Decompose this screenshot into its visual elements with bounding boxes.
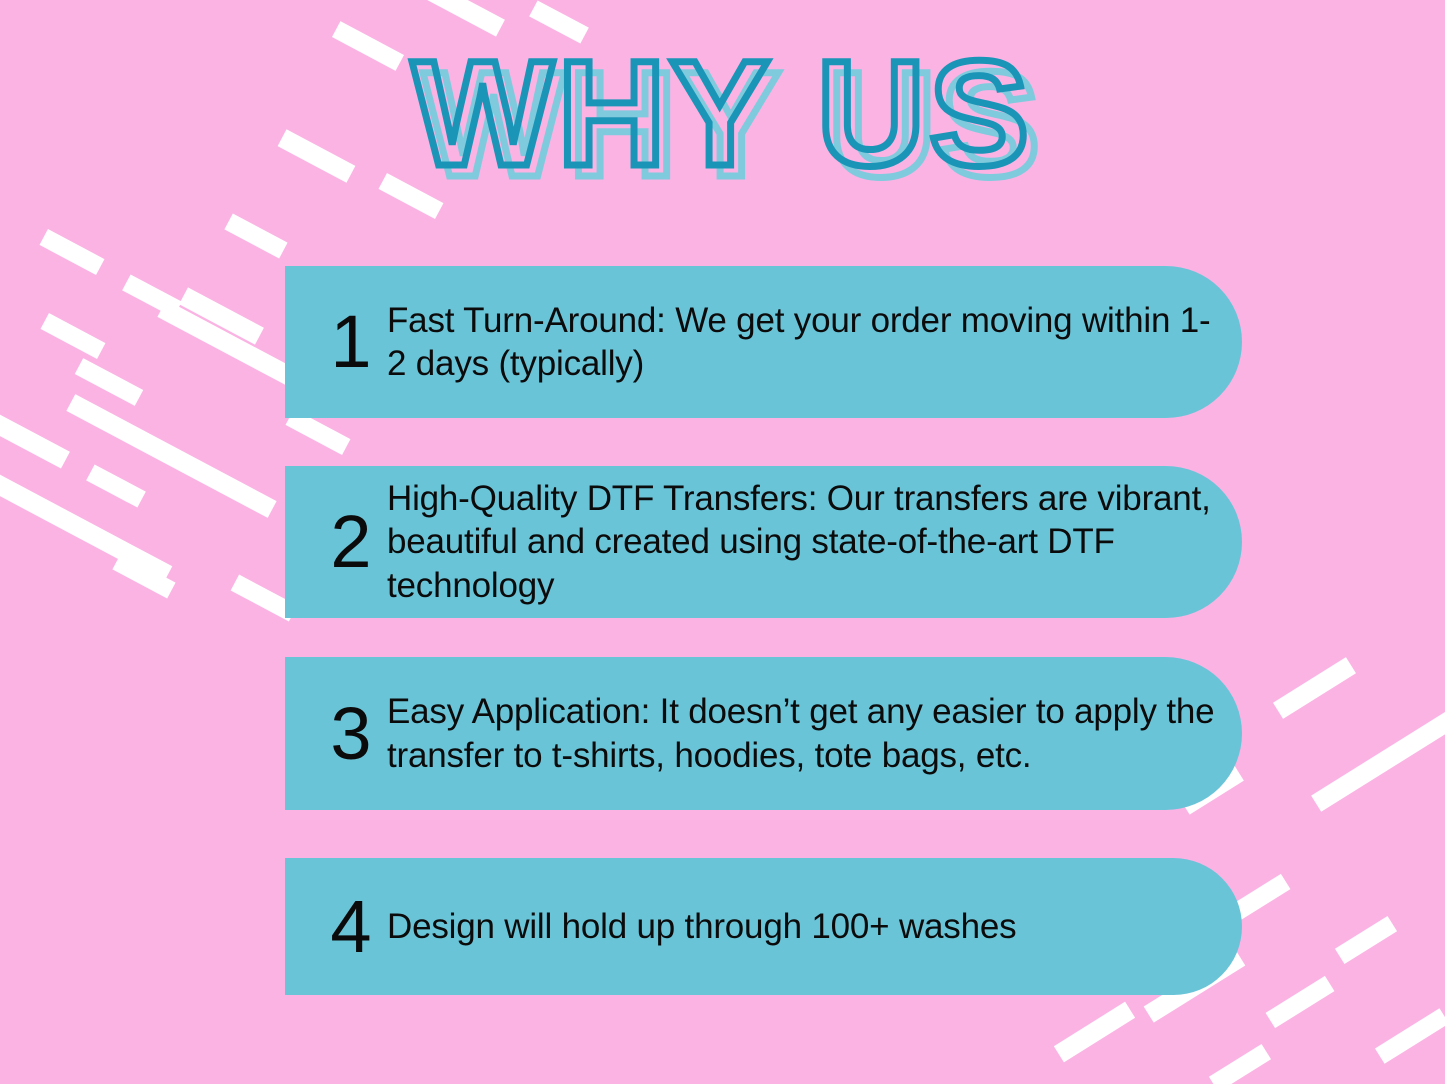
benefit-number-2: 2 [315, 509, 387, 574]
benefit-card-2: 2 High-Quality DTF Transfers: Our transf… [285, 466, 1242, 618]
benefit-card-4: 4 Design will hold up through 100+ washe… [285, 858, 1242, 995]
benefit-number-4: 4 [315, 894, 387, 959]
page-title: WHY US [412, 29, 1033, 197]
benefit-text-3: Easy Application: It doesn’t get any eas… [387, 690, 1242, 776]
benefit-card-1: 1 Fast Turn-Around: We get your order mo… [285, 266, 1242, 418]
benefit-number-1: 1 [315, 309, 387, 374]
benefit-text-4: Design will hold up through 100+ washes [387, 905, 1042, 948]
benefit-text-2: High-Quality DTF Transfers: Our transfer… [387, 477, 1242, 606]
benefit-card-3: 3 Easy Application: It doesn’t get any e… [285, 657, 1242, 810]
title-stack: WHY US WHY US [412, 38, 1033, 188]
benefit-number-3: 3 [315, 701, 387, 766]
poster-canvas: WHY US WHY US 1 Fast Turn-Around: We get… [0, 0, 1445, 1084]
benefit-text-1: Fast Turn-Around: We get your order movi… [387, 299, 1242, 385]
